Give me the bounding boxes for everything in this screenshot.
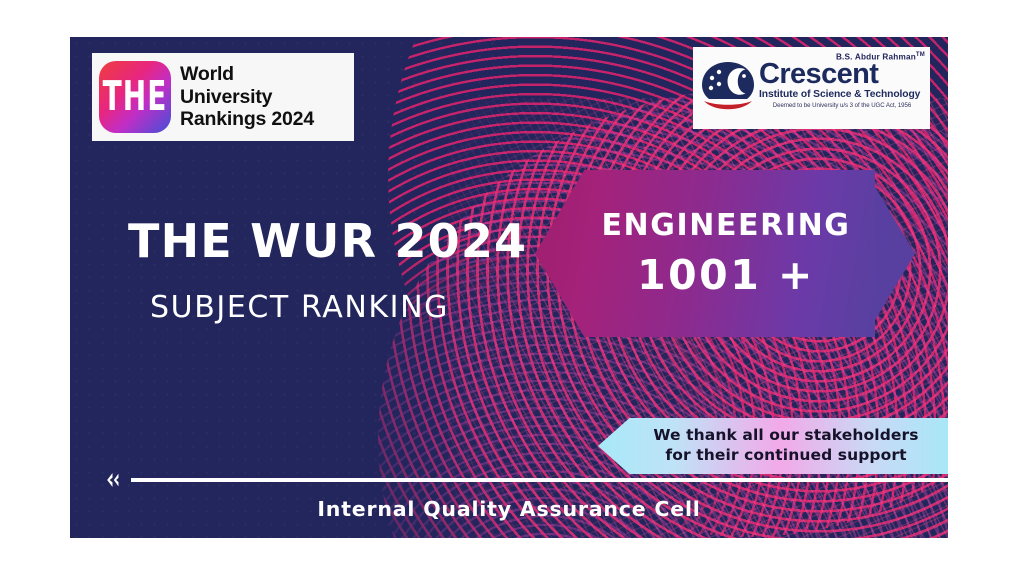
page-subtitle: SUBJECT RANKING xyxy=(150,290,598,325)
the-world-university-rankings-logo: THE World University Rankings 2024 xyxy=(92,53,354,141)
page-title: THE WUR 2024 xyxy=(128,217,598,265)
rank-badge: ENGINEERING 1001 + xyxy=(535,170,875,337)
rank-badge-subject-label: ENGINEERING xyxy=(601,211,850,241)
footer-divider xyxy=(131,478,948,482)
the-logo-line-3: Rankings 2024 xyxy=(180,108,314,131)
the-logo-line-2: University xyxy=(180,86,314,109)
the-logo-mark-icon: THE xyxy=(99,61,171,133)
rank-badge-value-label: 1001 + xyxy=(637,255,815,296)
crescent-wordmark: Crescent xyxy=(759,61,925,89)
poster-canvas: THE World University Rankings 2024 xyxy=(0,0,1024,576)
crescent-institute-logo: B.S. Abdur RahmanTM Crescent Institute o… xyxy=(693,47,930,129)
crescent-text-block: B.S. Abdur RahmanTM Crescent Institute o… xyxy=(759,52,925,109)
footer-rule-row xyxy=(103,469,948,491)
footer-caption: Internal Quality Assurance Cell xyxy=(70,497,948,521)
headline-block: THE WUR 2024 SUBJECT RANKING xyxy=(128,217,598,325)
poster-card: THE World University Rankings 2024 xyxy=(70,37,948,538)
thanks-banner: We thank all our stakeholders for their … xyxy=(598,418,948,474)
thanks-banner-line-1: We thank all our stakeholders xyxy=(653,426,918,446)
crescent-subtitle: Institute of Science & Technology xyxy=(759,89,925,100)
the-logo-wordmark: World University Rankings 2024 xyxy=(180,63,314,131)
the-logo-mark-label: THE xyxy=(103,77,168,118)
crescent-moon-and-stars-emblem-icon xyxy=(700,60,756,112)
double-chevron-left-icon xyxy=(103,470,123,490)
crescent-trademark-label: TM xyxy=(916,52,925,58)
crescent-deemed-university-note: Deemed to be University u/s 3 of the UGC… xyxy=(759,102,925,109)
the-logo-line-1: World xyxy=(180,63,314,86)
thanks-banner-line-2: for their continued support xyxy=(665,446,906,466)
